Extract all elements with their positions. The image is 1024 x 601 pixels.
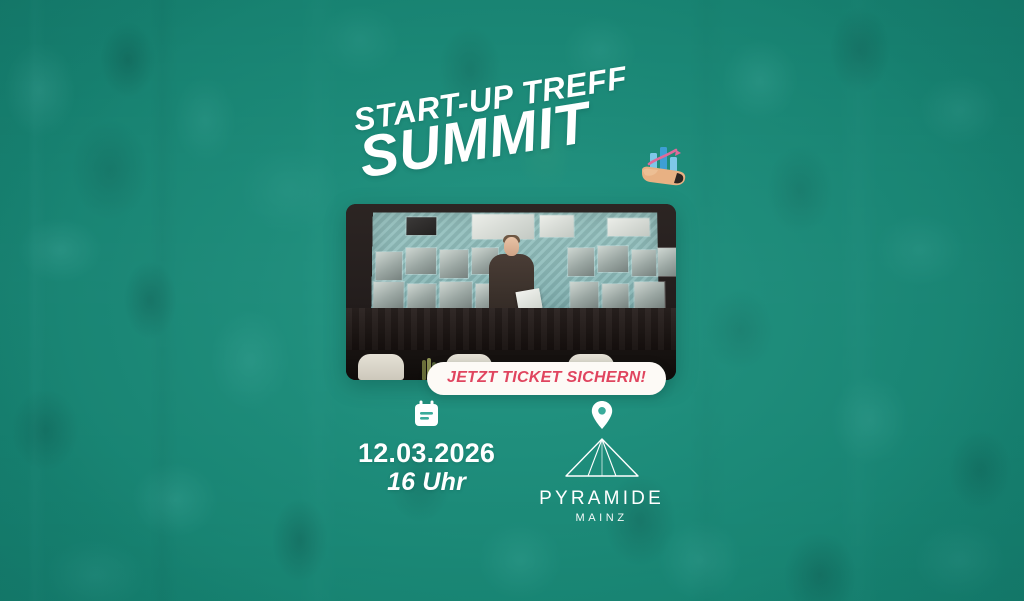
event-poster: START-UP TREFF SUMMIT: [0, 0, 1024, 601]
headline-line-2: SUMMIT: [355, 94, 593, 188]
event-venue-block[interactable]: PYRAMIDE MAINZ: [539, 400, 664, 524]
headline-group: START-UP TREFF SUMMIT: [0, 74, 1024, 194]
map-pin-icon: [590, 400, 614, 435]
buy-ticket-button[interactable]: JETZT TICKET SICHERN!: [427, 362, 666, 395]
hand-holding-bar-chart-emoji: [636, 137, 694, 193]
venue-city: MAINZ: [575, 513, 627, 524]
pyramid-outline-icon: [564, 437, 640, 484]
video-still-image: [346, 204, 676, 380]
event-date: 12.03.2026: [358, 439, 495, 468]
venue-name: PYRAMIDE: [539, 489, 664, 508]
event-time: 16 Uhr: [387, 468, 466, 497]
event-info-row: 12.03.2026 16 Uhr: [346, 400, 676, 510]
headline-line-1: START-UP TREFF: [351, 59, 630, 139]
buy-ticket-button-label: JETZT TICKET SICHERN!: [447, 369, 646, 387]
calendar-icon: [413, 400, 440, 433]
event-date-block: 12.03.2026 16 Uhr: [358, 400, 495, 497]
event-video-thumbnail[interactable]: [346, 204, 676, 380]
poster-content: START-UP TREFF SUMMIT: [0, 0, 1024, 601]
